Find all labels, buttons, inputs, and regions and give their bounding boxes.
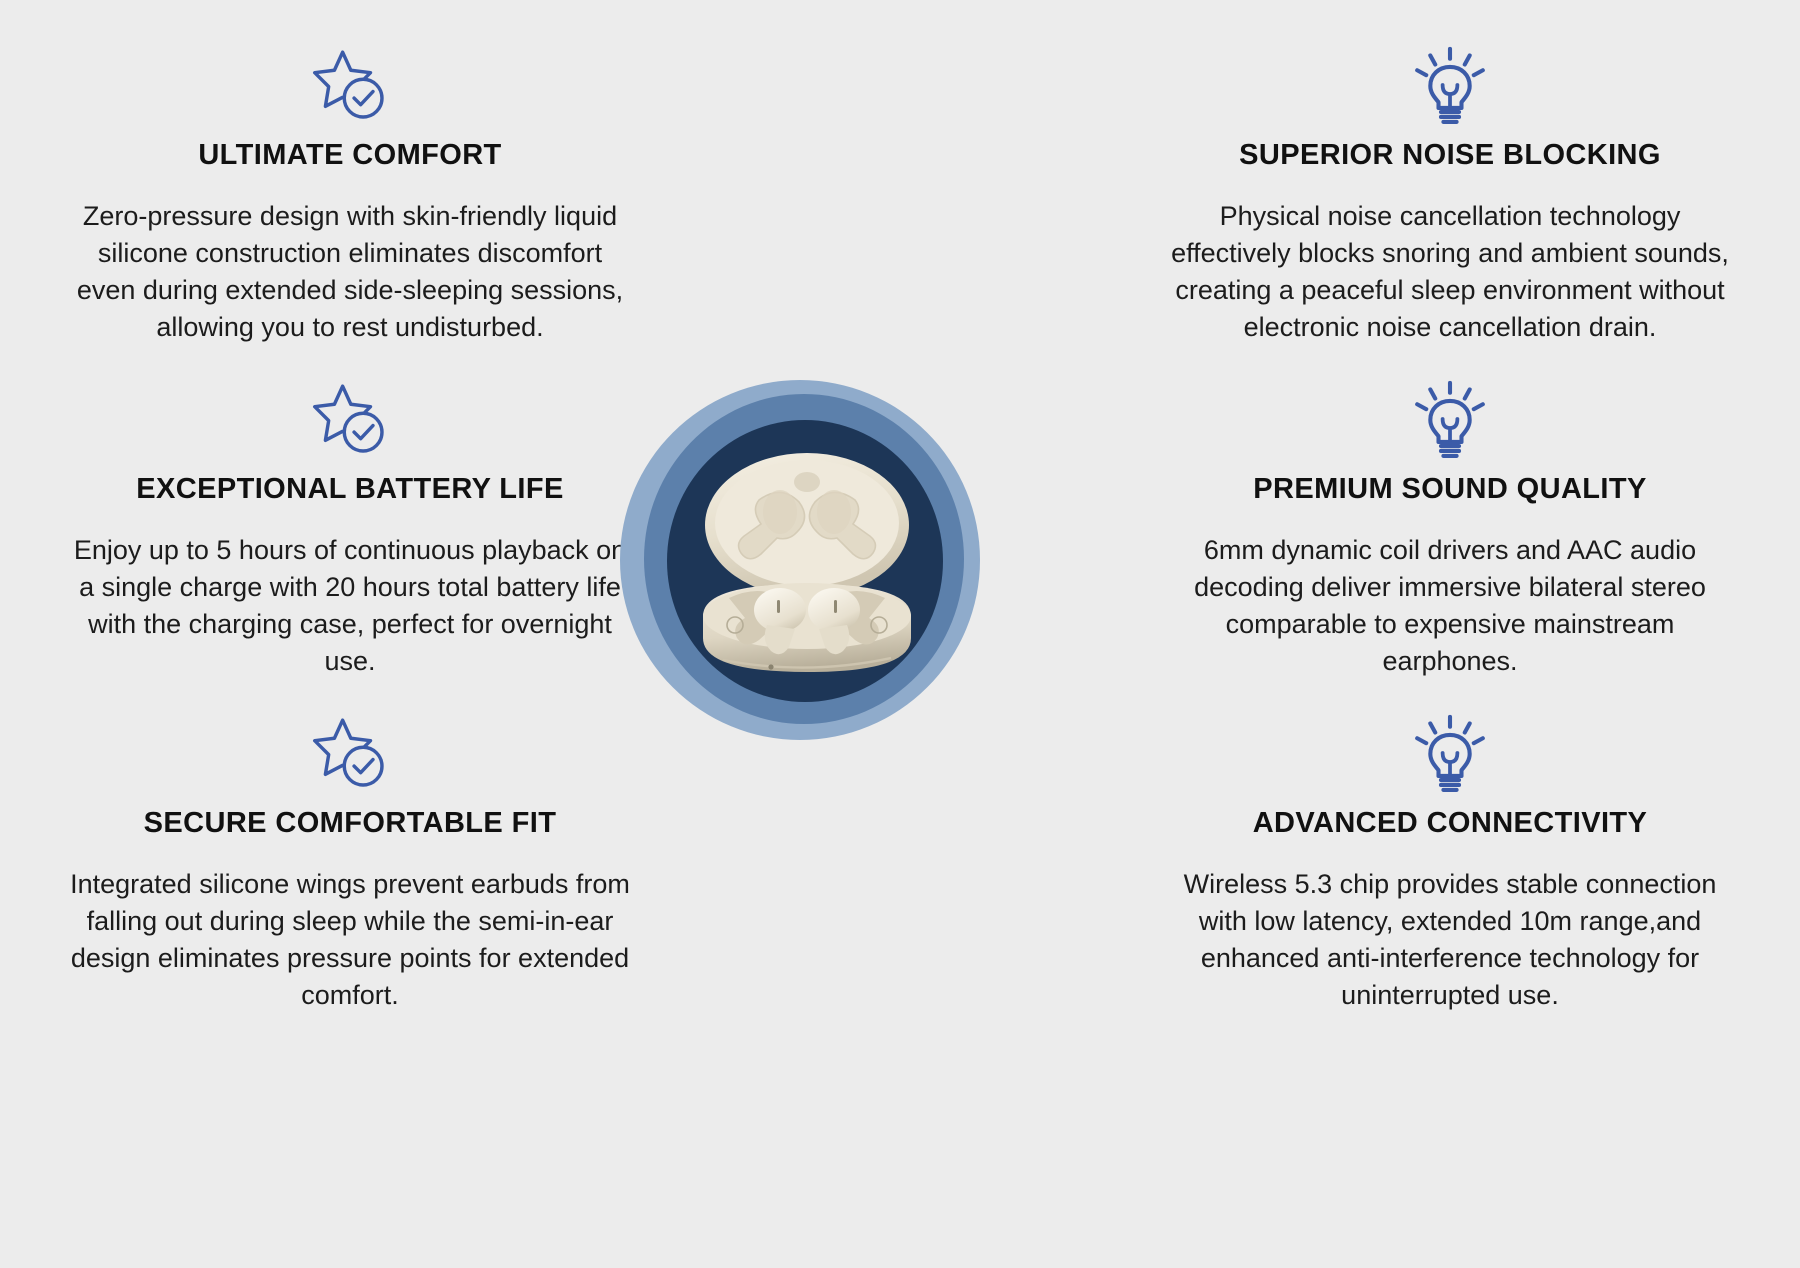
product-image [620, 380, 980, 740]
feature-block-ultimate-comfort: ULTIMATE COMFORT Zero-pressure design wi… [0, 44, 700, 346]
left-feature-column: ULTIMATE COMFORT Zero-pressure design wi… [0, 0, 700, 1268]
feature-body: Enjoy up to 5 hours of continuous playba… [65, 532, 635, 680]
lightbulb-icon [1409, 44, 1491, 126]
product-feature-infographic: ULTIMATE COMFORT Zero-pressure design wi… [0, 0, 1800, 1268]
feature-title: PREMIUM SOUND QUALITY [1253, 474, 1646, 506]
star-check-icon [309, 44, 391, 126]
feature-title: SUPERIOR NOISE BLOCKING [1239, 140, 1661, 172]
right-feature-column: SUPERIOR NOISE BLOCKING Physical noise c… [1100, 0, 1800, 1268]
feature-block-exceptional-battery-life: EXCEPTIONAL BATTERY LIFE Enjoy up to 5 h… [0, 378, 700, 680]
feature-body: Zero-pressure design with skin-friendly … [65, 198, 635, 346]
feature-title: SECURE COMFORTABLE FIT [144, 808, 557, 840]
feature-title: EXCEPTIONAL BATTERY LIFE [136, 474, 563, 506]
feature-block-premium-sound-quality: PREMIUM SOUND QUALITY 6mm dynamic coil d… [1100, 378, 1800, 680]
feature-block-secure-comfortable-fit: SECURE COMFORTABLE FIT Integrated silico… [0, 712, 700, 1014]
feature-block-advanced-connectivity: ADVANCED CONNECTIVITY Wireless 5.3 chip … [1100, 712, 1800, 1014]
star-check-icon [309, 712, 391, 794]
lightbulb-icon [1409, 378, 1491, 460]
feature-body: 6mm dynamic coil drivers and AAC audio d… [1160, 532, 1740, 680]
star-check-icon [309, 378, 391, 460]
feature-title: ULTIMATE COMFORT [198, 140, 501, 172]
feature-block-superior-noise-blocking: SUPERIOR NOISE BLOCKING Physical noise c… [1100, 44, 1800, 346]
product-ring-inner [667, 420, 943, 702]
feature-title: ADVANCED CONNECTIVITY [1253, 808, 1648, 840]
feature-body: Wireless 5.3 chip provides stable connec… [1160, 866, 1740, 1014]
feature-body: Physical noise cancellation technology e… [1160, 198, 1740, 346]
feature-body: Integrated silicone wings prevent earbud… [65, 866, 635, 1014]
lightbulb-icon [1409, 712, 1491, 794]
